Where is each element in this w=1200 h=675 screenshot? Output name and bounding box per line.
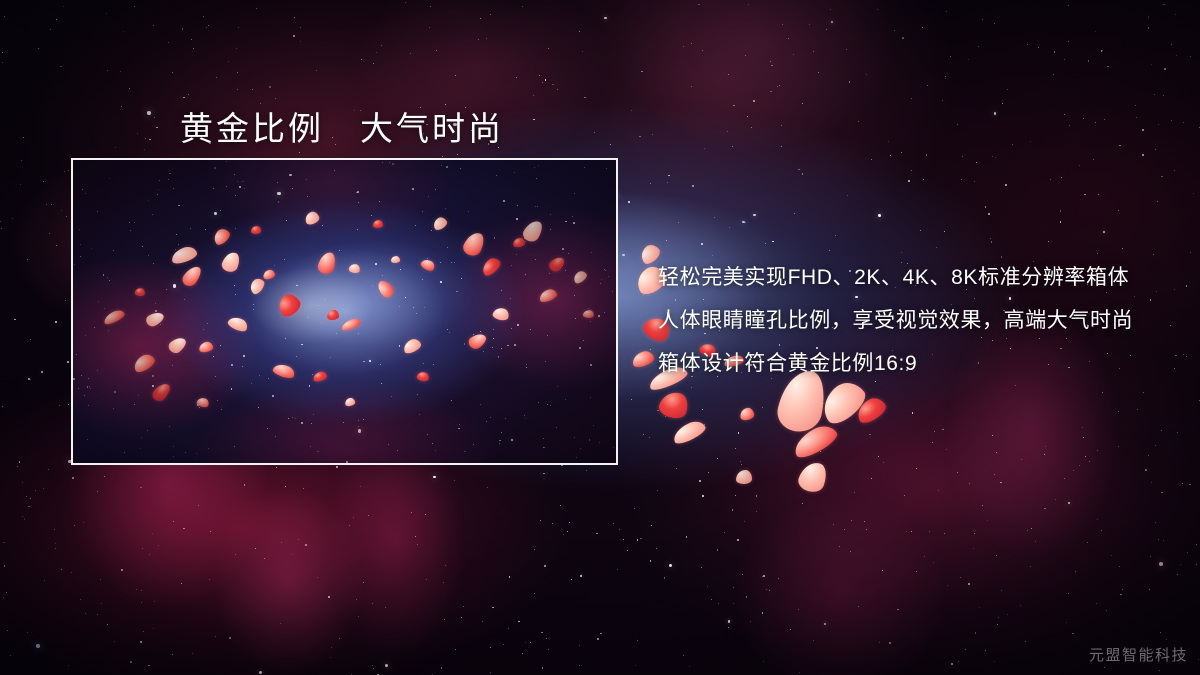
page-title: 黄金比例 大气时尚 [180,102,504,150]
petal [736,470,752,484]
feature-text-block: 轻松完美实现FHD、2K、4K、8K标准分辨率箱体 人体眼睛瞳孔比例，享受视觉效… [658,256,1178,385]
feature-line-1: 轻松完美实现FHD、2K、4K、8K标准分辨率箱体 [658,256,1178,299]
feature-line-3: 箱体设计符合黄金比例16:9 [658,342,1178,385]
photo-vignette [73,160,616,463]
feature-line-2: 人体眼睛瞳孔比例，享受视觉效果，高端大气时尚 [658,299,1178,342]
presentation-slide: 黄金比例 大气时尚 轻松完美实现FHD、2K、4K、8K标准分辨率箱体 人体眼睛… [0,0,1200,675]
watermark-label: 元盟智能科技 [1089,644,1188,665]
nebula-with-petals-photo [71,158,618,465]
